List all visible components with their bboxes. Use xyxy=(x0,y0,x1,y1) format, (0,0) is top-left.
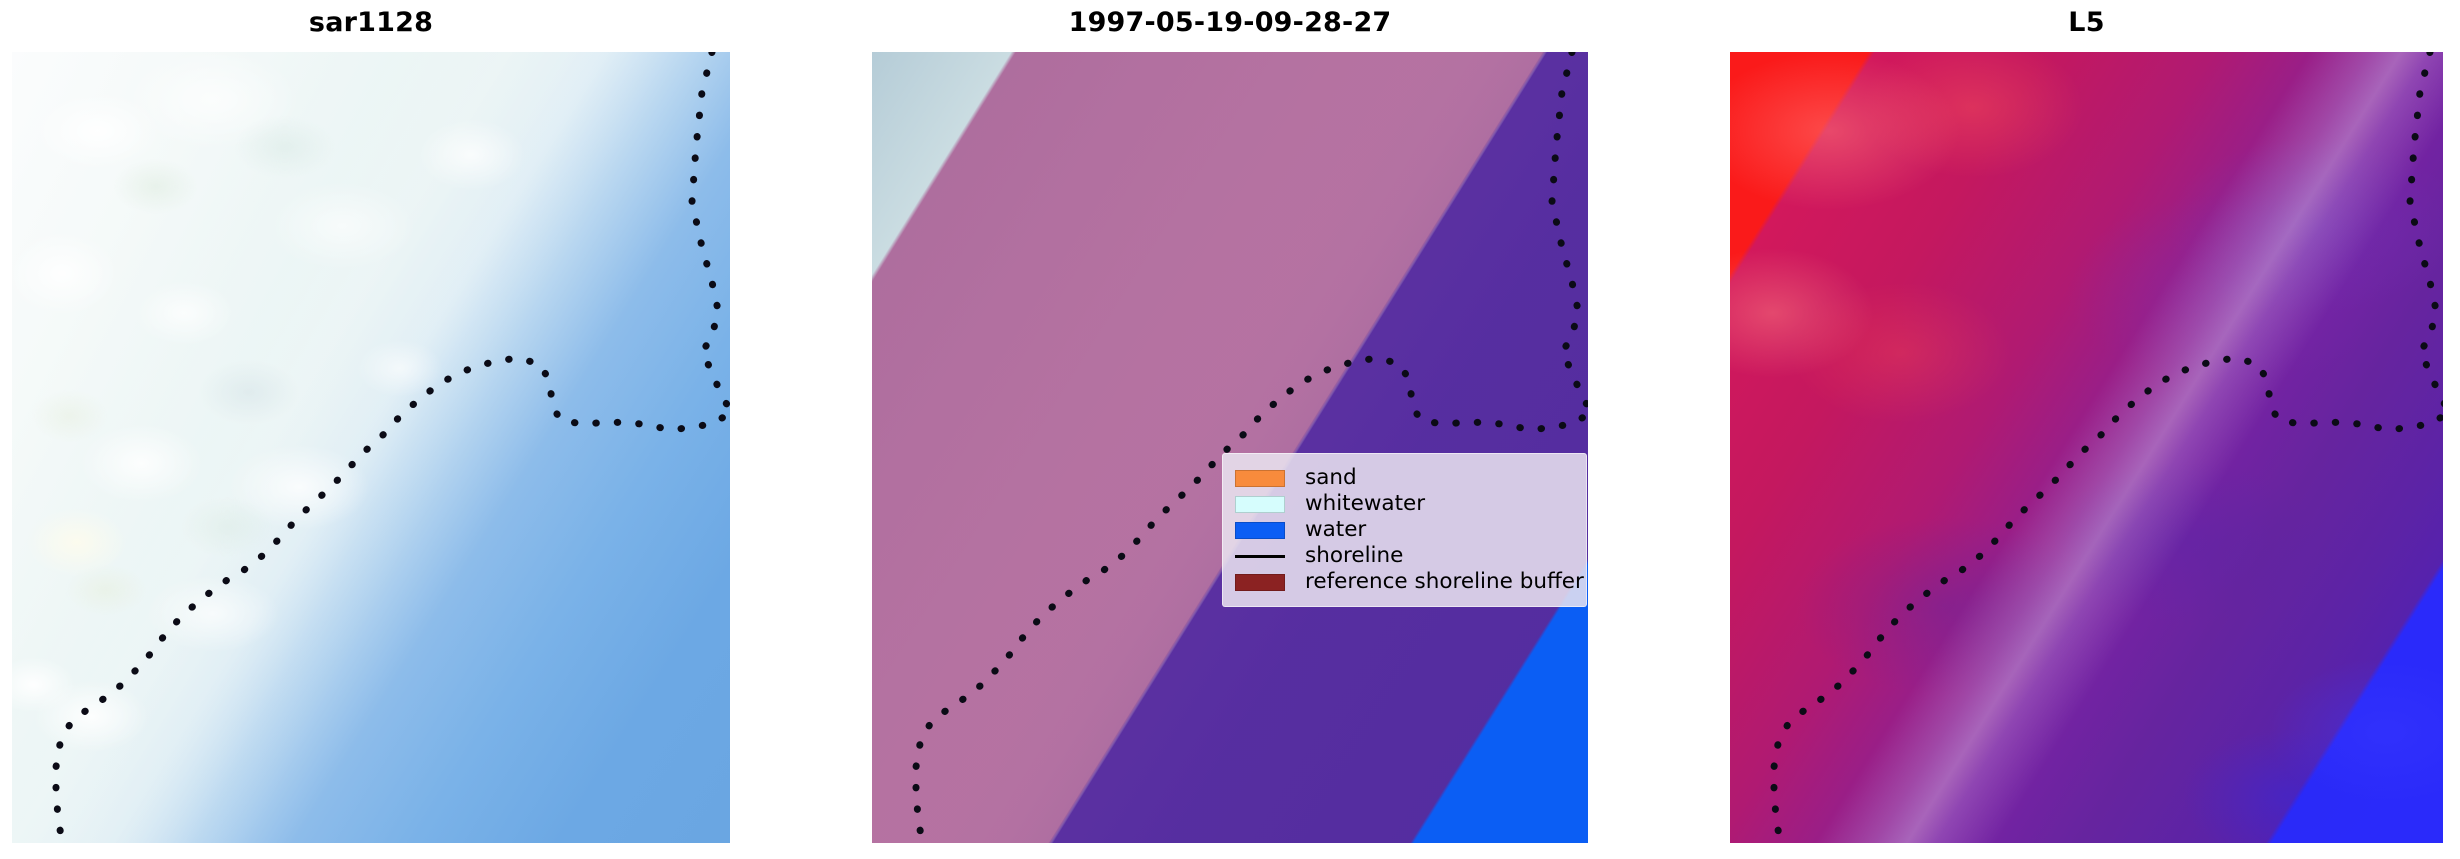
panel-sar-image[interactable] xyxy=(12,52,730,843)
whitewater-swatch-icon xyxy=(1235,496,1285,513)
legend-item-water: water xyxy=(1235,517,1572,543)
legend-item-reference-shoreline-buffer: reference shoreline buffer xyxy=(1235,569,1572,595)
legend-box: sand whitewater water shoreline referenc… xyxy=(1222,453,1587,607)
legend-label-shoreline: shoreline xyxy=(1305,545,1403,567)
legend-label-water: water xyxy=(1305,519,1366,541)
sand-swatch-icon xyxy=(1235,470,1285,487)
deep-water-class-overlay xyxy=(872,52,1588,843)
legend-label-whitewater: whitewater xyxy=(1305,493,1425,515)
reference-shoreline-buffer-swatch-icon xyxy=(1235,574,1285,591)
figure-canvas: sar1128 1997-05-19-09-28-27 L5 sand xyxy=(0,0,2460,859)
water-swatch-icon xyxy=(1235,522,1285,539)
rgb-vegetation-layer xyxy=(12,52,730,843)
legend-label-sand: sand xyxy=(1305,467,1357,489)
panel-title-classification: 1997-05-19-09-28-27 xyxy=(872,6,1588,40)
shoreline-line-swatch-icon xyxy=(1235,548,1285,565)
legend-label-reference-shoreline-buffer: reference shoreline buffer xyxy=(1305,571,1584,593)
legend-item-shoreline: shoreline xyxy=(1235,543,1572,569)
panel-l5-image[interactable] xyxy=(1730,52,2443,843)
index-shoreline-halo xyxy=(1730,52,2443,843)
panel-title-l5: L5 xyxy=(1730,6,2443,40)
legend-item-whitewater: whitewater xyxy=(1235,491,1572,517)
panel-classification-image[interactable] xyxy=(872,52,1588,843)
panel-title-sar: sar1128 xyxy=(12,6,730,40)
legend-item-sand: sand xyxy=(1235,465,1572,491)
